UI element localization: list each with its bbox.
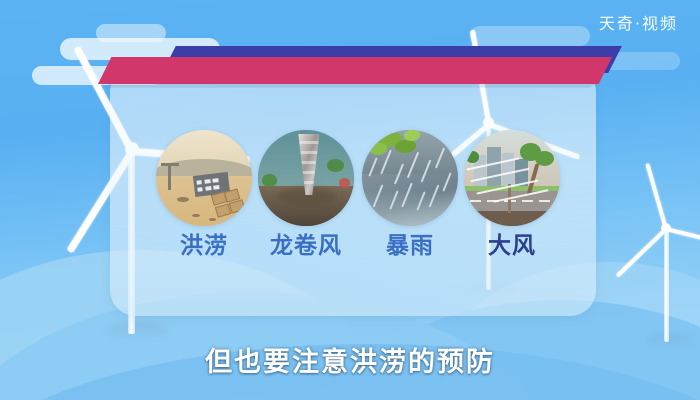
strong-wind-icon xyxy=(464,130,560,226)
watermark: 天奇·视频 xyxy=(599,10,678,34)
flood-icon xyxy=(156,130,252,226)
tornado-icon xyxy=(258,130,354,226)
hazard-card-flood[interactable]: 洪涝 xyxy=(154,130,254,258)
hazard-card-row: 洪涝 龙卷风 xyxy=(110,66,596,316)
hazard-card-rainstorm[interactable]: 暴雨 xyxy=(360,130,460,258)
hazard-label: 大风 xyxy=(462,235,562,258)
hazard-label: 龙卷风 xyxy=(256,235,356,258)
video-frame: 洪涝 龙卷风 xyxy=(0,0,700,400)
hazard-card-tornado[interactable]: 龙卷风 xyxy=(256,130,356,258)
hazard-label: 洪涝 xyxy=(154,235,254,258)
subtitle-text: 但也要注意洪涝的预防 xyxy=(0,340,700,379)
hazard-label: 暴雨 xyxy=(360,235,460,258)
hazard-card-strong-wind[interactable]: 大风 xyxy=(462,130,562,258)
rainstorm-icon xyxy=(362,130,458,226)
cloud-bar xyxy=(96,24,166,42)
cloud-bar xyxy=(470,26,590,46)
